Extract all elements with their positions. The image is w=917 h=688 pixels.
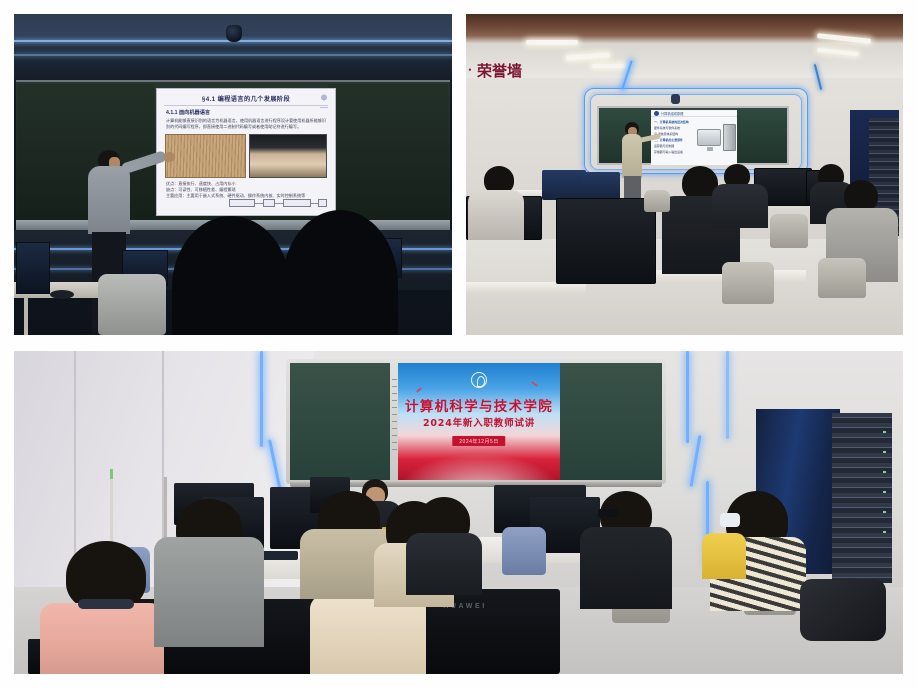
photo-collage: §4.1 编程语言的几个发展阶段 4.1.1 面向机器语言 计算机能够直接识别的…	[0, 0, 917, 688]
face-mask-icon	[720, 513, 740, 527]
chair-4	[644, 190, 670, 212]
chair-blue-2	[502, 527, 546, 575]
mouse-icon	[50, 290, 74, 299]
glasses-icon	[598, 509, 618, 517]
desk-leg	[24, 298, 28, 335]
punched-card-image	[165, 134, 246, 178]
photo-top-left[interactable]: §4.1 编程语言的几个发展阶段 4.1.1 面向机器语言 计算机能够直接识别的…	[14, 14, 452, 335]
projected-slide-top-left: §4.1 编程语言的几个发展阶段 4.1.1 面向机器语言 计算机能够直接识别的…	[156, 88, 336, 216]
slide-computer-illustration	[692, 117, 737, 165]
slide-event-title: 2024年新入职教师试讲	[398, 415, 560, 429]
neon-strip-4	[686, 351, 689, 443]
display-control-strip[interactable]	[392, 379, 397, 453]
attendee-3-torso	[712, 184, 768, 228]
attendee-2-torso	[154, 537, 264, 647]
decor-ribbon-2	[531, 381, 538, 387]
desktop-tower-icon	[723, 124, 736, 151]
chalkboard-left	[290, 363, 390, 480]
photo-top-right[interactable]: • 荣誉墙 计算机组成原理 一、计算机系统的层次结构	[466, 14, 903, 335]
slide-title: §4.1 编程语言的几个发展阶段	[164, 94, 328, 106]
board-assembly: 计算机科学与技术学院 2024年新入职教师试讲 2024年12月5日	[286, 359, 666, 484]
network-rack	[832, 413, 892, 583]
slide-group-1-title: 一、计算机系统的层次结构	[654, 120, 690, 125]
wall-seam-1	[74, 351, 76, 581]
monitor-left	[16, 242, 50, 294]
chalkboard-right	[733, 109, 786, 162]
university-emblem-icon	[318, 93, 330, 109]
university-emblem-icon	[471, 372, 487, 388]
desktop-monitor-icon	[697, 129, 721, 146]
instructor-torso	[88, 166, 130, 234]
ceiling-camera-icon	[226, 25, 242, 42]
wall-calligraphy-text: 荣誉墙	[477, 60, 522, 81]
chair-3	[722, 262, 774, 304]
slide-bullet-2b: 存储器与输入输出设备	[654, 150, 690, 155]
title-slide: 计算机科学与技术学院 2024年新入职教师试讲 2024年12月5日	[398, 363, 560, 480]
ceiling-camera-icon	[671, 94, 680, 104]
whiteboard-assembly: §4.1 编程语言的几个发展阶段 4.1.1 面向机器语言 计算机能够直接识别的…	[16, 80, 450, 222]
slide-image-row	[165, 134, 327, 178]
slide-organization: 计算机科学与技术学院	[398, 395, 560, 415]
slide-flow-diagram	[221, 195, 329, 211]
neon-strip-7	[726, 351, 729, 439]
ceiling-led-strip-2	[14, 54, 452, 56]
lecturer-torso	[622, 134, 642, 178]
chair-2	[818, 258, 866, 298]
lecturer-legs	[624, 176, 641, 198]
chalkboard-right	[328, 84, 448, 218]
slide-bullet-1a: 硬件系统与软件系统	[654, 126, 690, 131]
instructor-hand	[164, 152, 175, 162]
emblem-icon	[654, 111, 659, 116]
classroom-scene-top-left: §4.1 编程语言的几个发展阶段 4.1.1 面向机器语言 计算机能够直接识别的…	[14, 14, 452, 335]
attendee-1-collar	[78, 599, 134, 609]
backpack	[800, 579, 886, 641]
attendee-6-torso	[406, 533, 482, 595]
classroom-scene-bottom: 计算机科学与技术学院 2024年新入职教师试讲 2024年12月5日	[14, 351, 903, 674]
slide-date-badge: 2024年12月5日	[452, 436, 505, 446]
wall-calligraphy: • 荣誉墙	[468, 58, 530, 82]
slide-header: 计算机组成原理	[651, 110, 737, 117]
ceiling-light-3	[592, 64, 626, 68]
slide-screen-top-right: 计算机组成原理 一、计算机系统的层次结构 硬件系统与软件系统 冯·诺依曼体系结构…	[651, 110, 737, 165]
photo-bottom[interactable]: 计算机科学与技术学院 2024年新入职教师试讲 2024年12月5日	[14, 351, 903, 674]
monitor-2	[556, 198, 656, 284]
slide-body-text: 计算机能够直接识别的语言为机器语言，使用机器语言进行程序设计要使用机器所能够识别…	[164, 118, 328, 131]
slide-header-text: 计算机组成原理	[661, 111, 683, 116]
wood-slat-ceiling	[466, 14, 903, 78]
monitor-blue-1	[542, 170, 586, 200]
classroom-scene-top-right: • 荣誉墙 计算机组成原理 一、计算机系统的层次结构	[466, 14, 903, 335]
ceiling-light-1	[526, 40, 578, 45]
chalkboard-left	[18, 84, 154, 218]
slide-ribbon-graphic	[398, 446, 560, 480]
slide-group-2-title: 二、计算机的主要部件	[654, 138, 690, 143]
attendee-1-torso	[468, 190, 524, 240]
slide-bullet-2a: 运算器与控制器	[654, 144, 690, 149]
monitor-blue-2	[582, 172, 620, 200]
attendee-8-scarf	[702, 533, 746, 579]
chair-back-left	[98, 274, 166, 335]
neon-strip-1	[260, 351, 263, 447]
chalkboard-right	[558, 363, 662, 480]
early-computer-image	[249, 134, 327, 178]
attendee-7-torso	[580, 527, 672, 609]
decor-ribbon-1	[416, 387, 422, 392]
chair-1	[770, 214, 808, 248]
slide-subtitle: 4.1.1 面向机器语言	[166, 109, 328, 116]
attendee-1-torso	[40, 603, 164, 674]
